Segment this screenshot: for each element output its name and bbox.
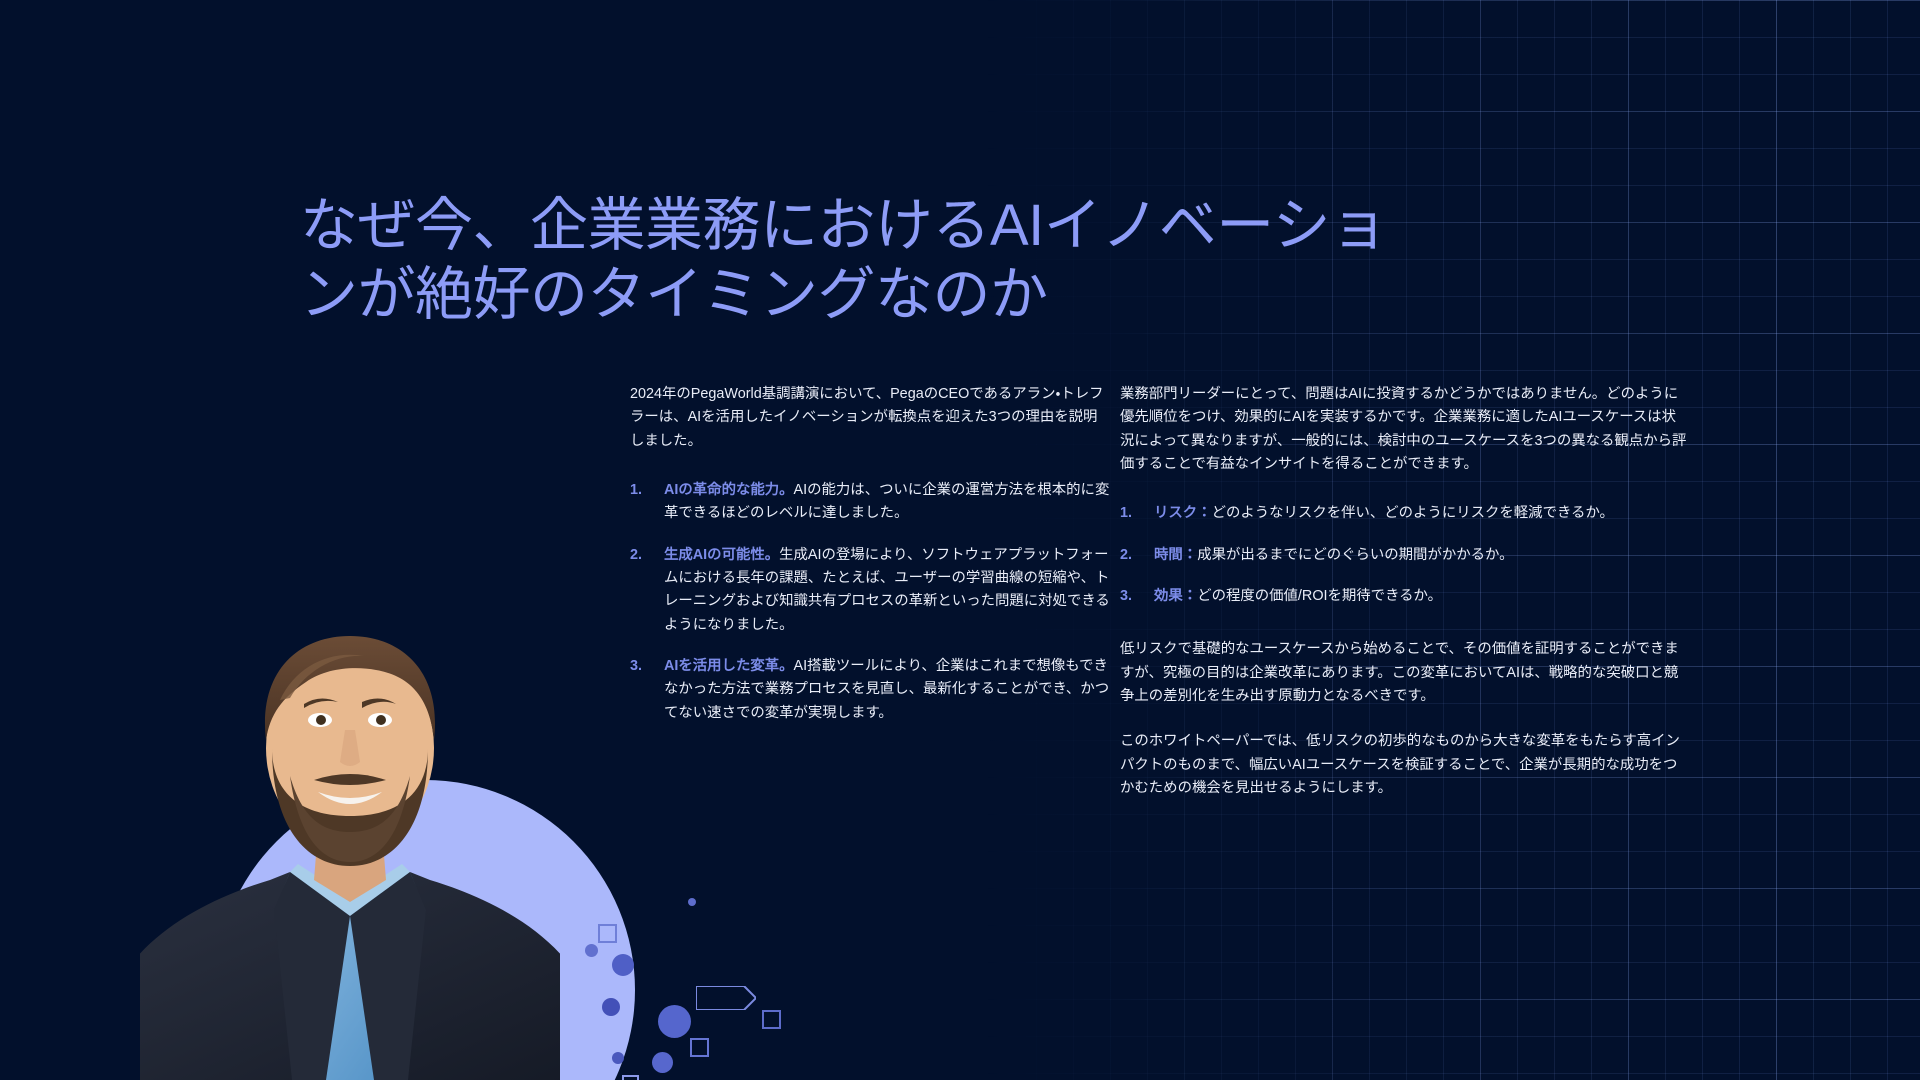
hero-artwork bbox=[0, 560, 800, 1080]
list-item: 1.リスク：どのようなリスクを伴い、どのようにリスクを軽減できるか。 bbox=[1120, 502, 1690, 525]
list-body: 成果が出るまでにどのぐらいの期間がかかるか。 bbox=[1197, 547, 1513, 563]
left-intro-paragraph: 2024年のPegaWorld基調講演において、PegaのCEOであるアラン・ト… bbox=[630, 383, 1110, 453]
list-body: どの程度の価値/ROIを期待できるか。 bbox=[1197, 588, 1442, 604]
decorative-square-outline bbox=[690, 1038, 709, 1057]
slide-canvas: なぜ今、企業業務におけるAIイノベーショ ンが絶好のタイミングなのか 2024年… bbox=[0, 0, 1920, 1080]
page-title: なぜ今、企業業務におけるAIイノベーショ ンが絶好のタイミングなのか bbox=[300, 191, 1520, 330]
list-lead-in: リスク： bbox=[1154, 505, 1212, 521]
right-closing-paragraph-1: 低リスクで基礎的なユースケースから始めることで、その価値を証明することができます… bbox=[1120, 638, 1690, 708]
list-lead-in: 効果： bbox=[1154, 588, 1197, 604]
list-lead-in: 時間： bbox=[1154, 547, 1197, 563]
list-number: 1. bbox=[630, 479, 642, 502]
decorative-circle bbox=[585, 944, 598, 957]
decorative-square-outline bbox=[598, 924, 617, 943]
decorative-circle bbox=[658, 1005, 691, 1038]
speaker-portrait bbox=[140, 580, 560, 1080]
list-item: 2.時間：成果が出るまでにどのぐらいの期間がかかるか。 bbox=[1120, 544, 1690, 567]
list-item: 3.効果：どの程度の価値/ROIを期待できるか。 bbox=[1120, 585, 1690, 608]
decorative-circle bbox=[688, 898, 696, 906]
list-number: 3. bbox=[1120, 585, 1132, 608]
list-item: 1.AIの革命的な能力。AIの能力は、ついに企業の運営方法を根本的に変革できるほ… bbox=[630, 479, 1110, 526]
right-numbered-list: 1.リスク：どのようなリスクを伴い、どのようにリスクを軽減できるか。 2.時間：… bbox=[1120, 502, 1690, 608]
right-column: 業務部門リーダーにとって、問題はAIに投資するかどうかではありません。どのように… bbox=[1120, 383, 1690, 817]
decorative-square-outline bbox=[762, 1010, 781, 1029]
list-number: 2. bbox=[1120, 544, 1132, 567]
decorative-circle bbox=[652, 1052, 673, 1073]
decorative-circle bbox=[602, 998, 620, 1016]
list-body: どのようなリスクを伴い、どのようにリスクを軽減できるか。 bbox=[1212, 505, 1614, 521]
right-intro-paragraph: 業務部門リーダーにとって、問題はAIに投資するかどうかではありません。どのように… bbox=[1120, 383, 1690, 476]
list-number: 1. bbox=[1120, 502, 1132, 525]
decorative-circle bbox=[612, 1052, 624, 1064]
decorative-square-outline bbox=[622, 1075, 639, 1080]
decorative-arrow-tag bbox=[698, 988, 758, 1012]
decorative-circle bbox=[612, 954, 634, 976]
list-lead-in: AIの革命的な能力。 bbox=[664, 482, 794, 498]
right-closing-paragraph-2: このホワイトペーパーでは、低リスクの初歩的なものから大きな変革をもたらす高インパ… bbox=[1120, 730, 1690, 800]
